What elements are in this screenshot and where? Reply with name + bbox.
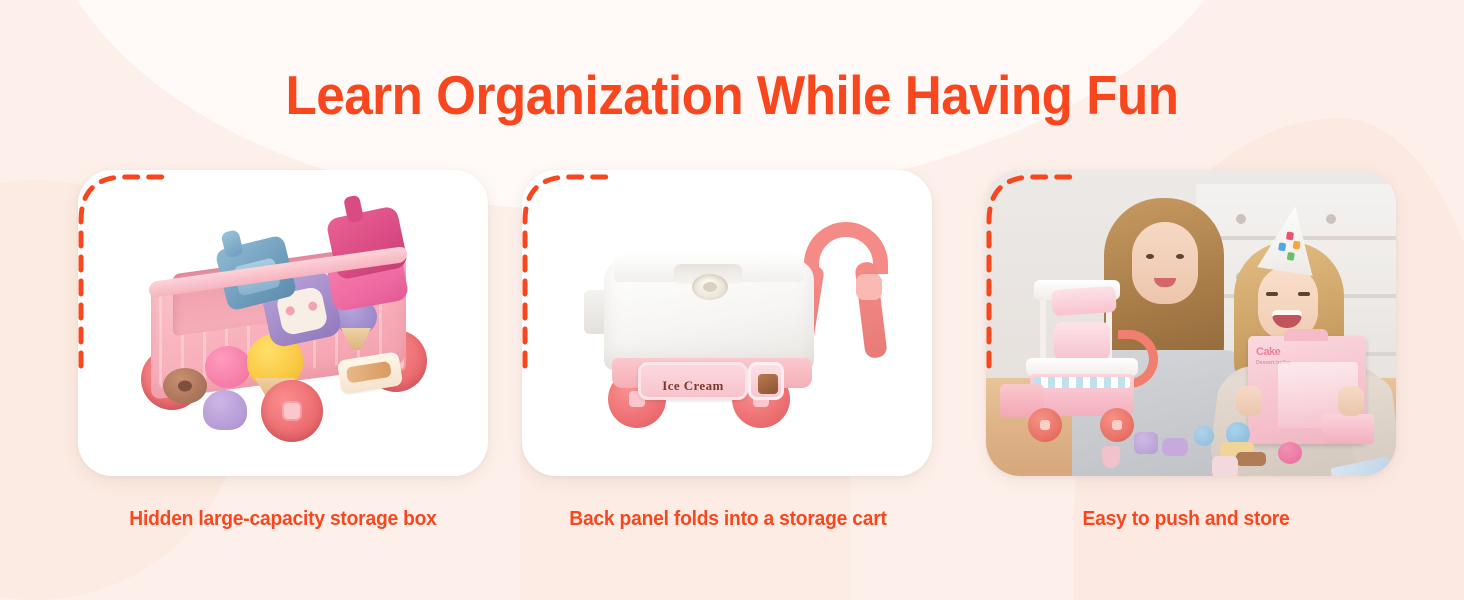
feature-card-row: Ice Cream (0, 170, 1464, 480)
scattered-toy-2 (1162, 438, 1188, 456)
scattered-toy-9 (1102, 446, 1120, 468)
trolley-sign (1051, 286, 1117, 316)
pink-wagon-cart (133, 230, 433, 445)
scattered-toy-3 (1194, 426, 1214, 446)
girl-hand-left (1236, 386, 1262, 416)
ice-cream-label: Ice Cream (638, 362, 748, 400)
scattered-toy-6 (1236, 452, 1266, 466)
toy-donut (163, 368, 207, 404)
trolley-wheel-left (1028, 408, 1062, 442)
feature-card-3-image: Cake Dessert trolley (986, 170, 1396, 476)
trolley-post-left (1040, 294, 1046, 358)
lifestyle-photo: Cake Dessert trolley (986, 170, 1396, 476)
cart-emblem-sticker (748, 362, 784, 400)
caption-row: Hidden large-capacity storage box Back p… (0, 508, 1464, 554)
folded-storage-cart: Ice Cream (582, 212, 882, 437)
folded-cart-illustration: Ice Cream (522, 170, 932, 476)
feature-card-1[interactable] (78, 170, 488, 476)
product-box-handle (1284, 329, 1328, 341)
caption-card-1: Hidden large-capacity storage box (57, 508, 508, 531)
handle-knob (856, 274, 882, 300)
girl-hand-right (1338, 386, 1364, 416)
ice-cream-label-text: Ice Cream (662, 378, 723, 394)
scattered-toy-7 (1212, 456, 1238, 476)
caption-card-3: Easy to push and store (960, 508, 1411, 531)
cart-top-ring (692, 274, 728, 300)
caption-card-2: Back panel folds into a storage cart (502, 508, 953, 531)
trolley-wheel-right (1100, 408, 1134, 442)
assembled-trolley-toy (1000, 280, 1156, 448)
wagon-wheel-front (261, 380, 323, 442)
trolley-dessert-tier (1054, 322, 1110, 360)
product-box-cart-art (1322, 414, 1374, 444)
feature-card-3[interactable]: Cake Dessert trolley (986, 170, 1396, 476)
product-box-logo: Cake (1256, 346, 1280, 358)
scattered-toy-1 (1134, 432, 1158, 454)
feature-card-2-image: Ice Cream (522, 170, 932, 476)
page-title: Learn Organization While Having Fun (51, 64, 1413, 126)
wagon-toy-illustration (78, 170, 488, 476)
toy-pink-scoop (205, 346, 251, 388)
feature-card-1-image (78, 170, 488, 476)
scattered-toy-8 (1278, 442, 1302, 464)
toy-lilac-scoop (203, 390, 247, 430)
feature-card-2[interactable]: Ice Cream (522, 170, 932, 476)
